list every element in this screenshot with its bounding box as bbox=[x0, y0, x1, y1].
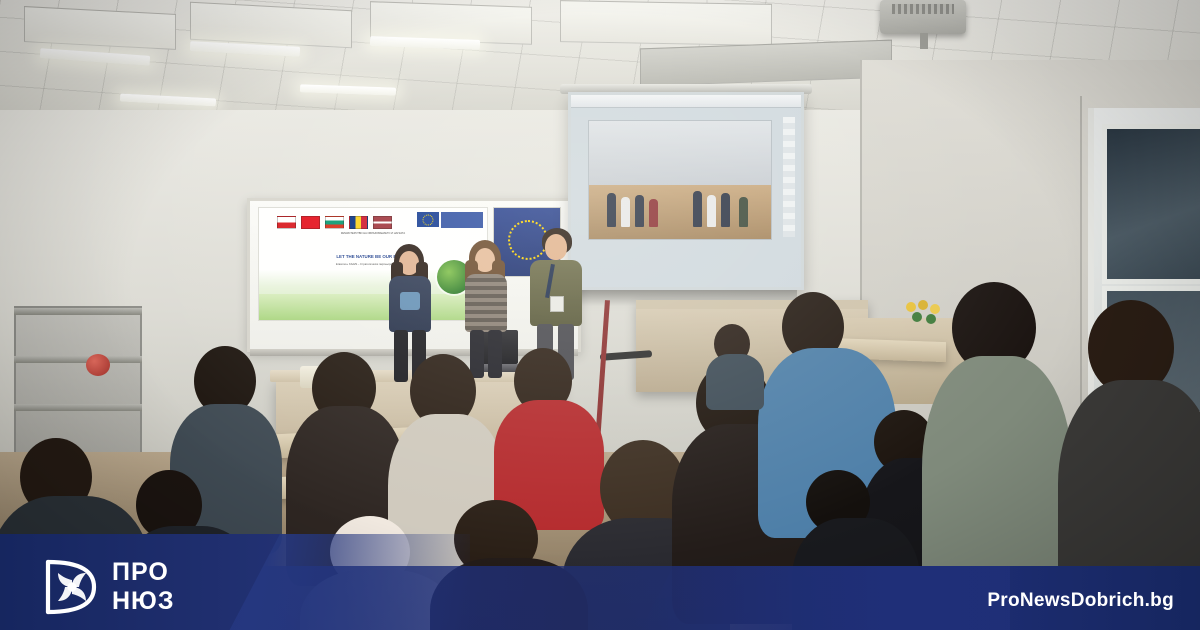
slide-photo-person bbox=[607, 193, 616, 227]
slide-photo-background bbox=[589, 121, 771, 185]
audience-member bbox=[430, 500, 580, 630]
window-pane-upper bbox=[1102, 124, 1200, 284]
flag-bulgaria bbox=[325, 216, 344, 229]
slide-photo-person bbox=[707, 195, 716, 227]
flag-romania bbox=[349, 216, 368, 229]
shelf-board bbox=[14, 308, 142, 315]
badge bbox=[550, 296, 564, 312]
torso bbox=[530, 260, 582, 326]
torso bbox=[706, 354, 764, 410]
slide-photo-person bbox=[649, 199, 658, 227]
poster-logo-block bbox=[441, 212, 483, 228]
poster-flag-row bbox=[277, 216, 392, 229]
slide-sidebar bbox=[783, 117, 795, 237]
slide-photo bbox=[589, 121, 771, 239]
audience-member bbox=[706, 320, 764, 390]
torso bbox=[922, 356, 1072, 630]
eu-flag-icon bbox=[417, 212, 439, 227]
slide-photo-person bbox=[693, 191, 702, 227]
slide-photo-person bbox=[739, 197, 748, 227]
slide-toolbar bbox=[571, 95, 801, 108]
audience-member bbox=[792, 470, 912, 630]
audience-member bbox=[118, 470, 248, 630]
slide-photo-person bbox=[721, 193, 730, 227]
flower bbox=[906, 302, 916, 312]
torso bbox=[792, 518, 920, 630]
ceiling-panel bbox=[560, 0, 772, 46]
projected-slide bbox=[571, 95, 801, 287]
flag-czech-republic bbox=[277, 216, 296, 229]
poster-header-text: МИНИСТЕРСТВО НА ОБРАЗОВАНИЕТО И НАУКАТА bbox=[265, 232, 481, 236]
head bbox=[545, 234, 567, 260]
flag-turkey bbox=[301, 216, 320, 229]
torso bbox=[430, 558, 588, 630]
audience-member bbox=[922, 282, 1062, 630]
torso bbox=[118, 526, 258, 630]
audience-member bbox=[1058, 300, 1200, 630]
shirt-print bbox=[400, 292, 420, 310]
shelf-board bbox=[14, 404, 142, 411]
slide-photo-person bbox=[621, 197, 630, 227]
poster-title: LET THE NATURE BE OUR FRIEND bbox=[265, 254, 481, 259]
projection-screen bbox=[568, 92, 804, 290]
photograph: МИНИСТЕРСТВО НА ОБРАЗОВАНИЕТО И НАУКАТА … bbox=[0, 0, 1200, 630]
torso bbox=[1058, 380, 1200, 630]
ceiling-projector bbox=[880, 0, 966, 34]
poster-grass-graphic bbox=[259, 294, 487, 320]
striped-top bbox=[465, 274, 507, 332]
erasmus-project-poster: МИНИСТЕРСТВО НА ОБРАЗОВАНИЕТО И НАУКАТА … bbox=[258, 207, 488, 321]
slide-photo-person bbox=[635, 195, 644, 227]
screenshot-canvas: МИНИСТЕРСТВО НА ОБРАЗОВАНИЕТО И НАУКАТА … bbox=[0, 0, 1200, 630]
flower bbox=[912, 312, 922, 322]
shelf-board bbox=[14, 356, 142, 363]
projector-mount bbox=[920, 33, 928, 49]
flag-latvia bbox=[373, 216, 392, 229]
audience-member bbox=[300, 516, 450, 630]
red-ball bbox=[86, 354, 110, 376]
